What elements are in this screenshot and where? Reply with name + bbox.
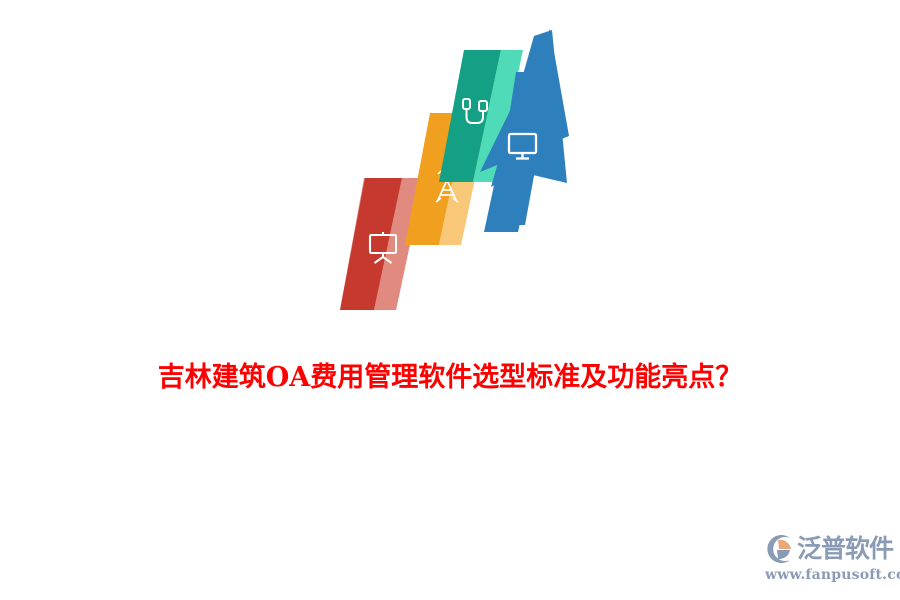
poster-canvas: 吉林建筑OA费用管理软件选型标准及功能亮点？ 泛普软件 www.fanpusof… xyxy=(0,0,900,600)
brand-name: 泛普软件 xyxy=(797,534,893,564)
brand-logo: 泛普软件 www.fanpusoft.com xyxy=(765,533,893,585)
brand-logo-row: 泛普软件 xyxy=(765,533,893,565)
growth-arrow-graphic xyxy=(340,20,600,310)
page-headline: 吉林建筑OA费用管理软件选型标准及功能亮点？ xyxy=(0,358,900,398)
fanpu-swoosh-logo-icon xyxy=(765,534,795,564)
brand-url: www.fanpusoft.com xyxy=(765,566,893,584)
